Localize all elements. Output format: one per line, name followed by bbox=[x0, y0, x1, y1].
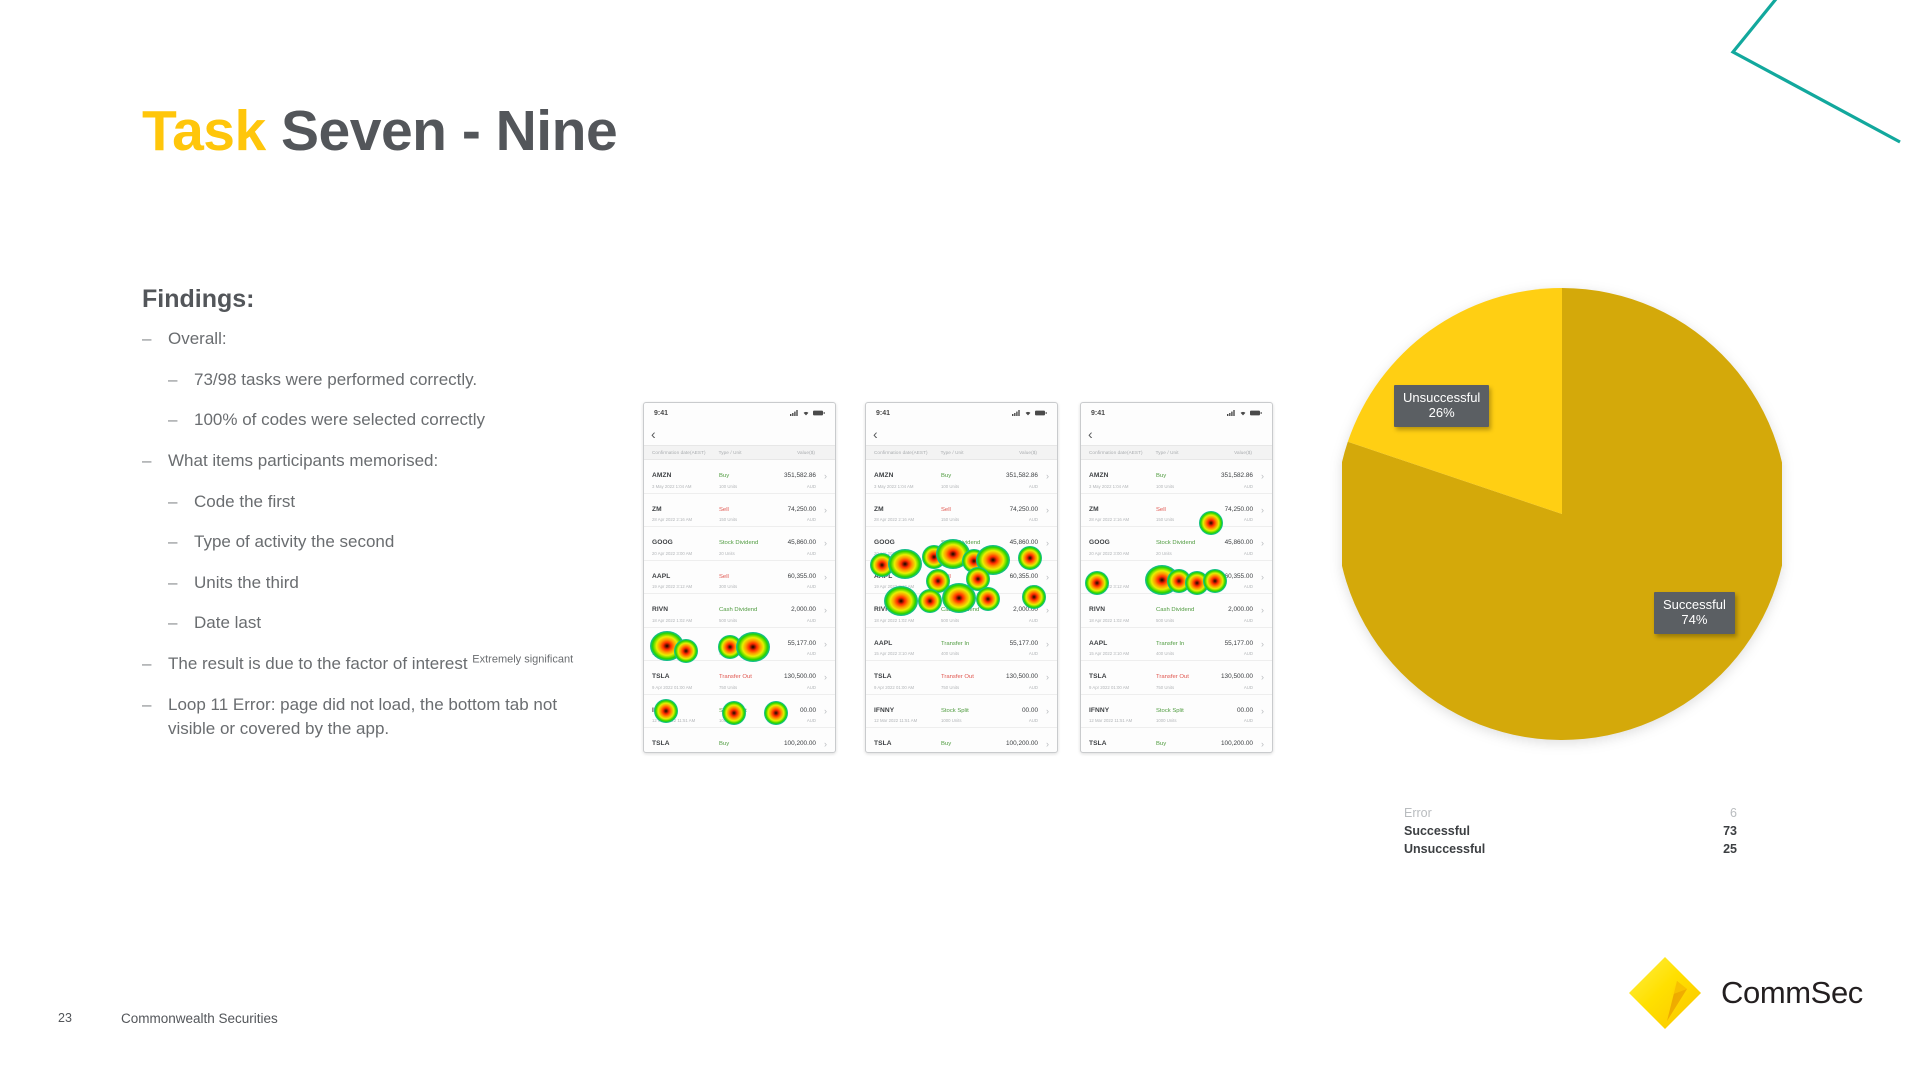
row-date: 15 Apr 2022 3:10 AM bbox=[1089, 651, 1156, 656]
row-type: Buy bbox=[719, 473, 729, 479]
finding-bullet: –Date last bbox=[142, 611, 582, 636]
bullet-dash-icon: – bbox=[142, 652, 168, 677]
row-currency: AUD bbox=[992, 752, 1038, 754]
row-units: 500 Units bbox=[941, 618, 992, 623]
cellular-signal-icon bbox=[790, 410, 799, 416]
chevron-right-icon[interactable]: › bbox=[816, 672, 827, 682]
data-table-label: Unsuccessful bbox=[1404, 841, 1485, 859]
row-type: Buy bbox=[719, 741, 729, 747]
row-symbol: RIVN bbox=[1089, 606, 1105, 613]
row-symbol: AMZN bbox=[652, 472, 671, 479]
bullet-dash-icon: – bbox=[168, 490, 194, 515]
bullet-text: Code the first bbox=[194, 490, 582, 515]
row-type: Transfer Out bbox=[941, 674, 974, 680]
row-date: 20 Apr 2022 3:00 AM bbox=[874, 551, 941, 556]
row-symbol: ZM bbox=[874, 506, 884, 513]
row-units: 150 Units bbox=[1156, 517, 1207, 522]
row-symbol: AAPL bbox=[874, 640, 892, 647]
title-highlight: Task bbox=[142, 99, 266, 163]
table-row[interactable]: IFNNY12 Mar 2022 11:51 AMStock Split1000… bbox=[644, 695, 835, 729]
column-header-value: Value($) bbox=[991, 450, 1049, 455]
row-currency: AUD bbox=[1207, 551, 1253, 556]
row-units: 180 Units bbox=[1156, 752, 1207, 754]
bullet-text: Type of activity the second bbox=[194, 530, 582, 555]
bullet-text: Date last bbox=[194, 611, 582, 636]
row-units: 750 Units bbox=[1156, 685, 1207, 690]
pie-label-successful-percent: 74% bbox=[1663, 612, 1726, 627]
row-symbol: AAPL bbox=[652, 573, 670, 580]
row-units: 400 Units bbox=[1156, 651, 1207, 656]
row-symbol: IFNNY bbox=[1089, 707, 1109, 714]
finding-bullet: –Type of activity the second bbox=[142, 530, 582, 555]
row-symbol: RIVN bbox=[874, 606, 890, 613]
row-currency: AUD bbox=[992, 517, 1038, 522]
bullet-text: Overall: bbox=[168, 327, 582, 352]
chevron-right-icon[interactable]: › bbox=[1038, 505, 1049, 515]
table-row[interactable]: TSLA9 Apr 2022 01:00 AMTransfer Out750 U… bbox=[1081, 661, 1272, 695]
row-currency: AUD bbox=[770, 551, 816, 556]
row-date: 19 Apr 2022 3:12 AM bbox=[652, 584, 719, 589]
data-table-label: Successful bbox=[1404, 823, 1470, 841]
table-row[interactable]: IFNNY12 Mar 2022 11:51 AMStock Split1000… bbox=[866, 695, 1057, 729]
row-amount: 351,582.86 bbox=[784, 472, 816, 479]
row-type: Cash Dividend bbox=[719, 607, 757, 613]
finding-bullet: –Overall: bbox=[142, 327, 582, 352]
row-amount: 60,355.00 bbox=[1225, 573, 1253, 580]
transaction-list: AMZN3 May 2022 1:04 AMBuy100 Units351,58… bbox=[866, 460, 1057, 753]
row-type: Transfer In bbox=[1156, 641, 1184, 647]
chevron-right-icon[interactable]: › bbox=[1253, 605, 1264, 615]
row-date: 18 Apr 2022 1:02 AM bbox=[652, 618, 719, 623]
row-type: Transfer In bbox=[719, 641, 747, 647]
row-date: 12 Mar 2022 11:51 AM bbox=[1089, 718, 1156, 723]
row-date: 3 May 2022 1:04 AM bbox=[874, 484, 941, 489]
finding-bullet: –Loop 11 Error: page did not load, the b… bbox=[142, 693, 582, 742]
finding-bullet: –What items participants memorised: bbox=[142, 449, 582, 474]
row-symbol: TSLA bbox=[874, 673, 892, 680]
row-type: Buy bbox=[1156, 741, 1166, 747]
row-currency: AUD bbox=[770, 718, 816, 723]
bullet-dash-icon: – bbox=[168, 368, 194, 393]
row-amount: 351,582.86 bbox=[1006, 472, 1038, 479]
row-units: 750 Units bbox=[719, 685, 770, 690]
finding-bullet: –100% of codes were selected correctly bbox=[142, 408, 582, 433]
finding-bullet: –73/98 tasks were performed correctly. bbox=[142, 368, 582, 393]
chevron-right-icon[interactable]: › bbox=[1253, 672, 1264, 682]
slide-root: Task Seven - Nine Findings: –Overall:–73… bbox=[0, 0, 1920, 1080]
bullet-dash-icon: – bbox=[142, 449, 168, 474]
row-type: Cash Dividend bbox=[1156, 607, 1194, 613]
row-currency: AUD bbox=[770, 651, 816, 656]
bullet-dash-icon: – bbox=[168, 530, 194, 555]
row-type: Stock Split bbox=[1156, 708, 1184, 714]
row-type: Stock Dividend bbox=[1156, 540, 1195, 546]
row-amount: 55,177.00 bbox=[1010, 640, 1038, 647]
row-amount: 00.00 bbox=[800, 707, 816, 714]
row-symbol: GOOG bbox=[874, 539, 895, 546]
table-row[interactable]: ZM28 Apr 2022 2:16 AMSell150 Units74,250… bbox=[644, 494, 835, 528]
row-amount: 60,355.00 bbox=[1010, 573, 1038, 580]
table-row[interactable]: GOOG20 Apr 2022 3:00 AMStock Dividend20 … bbox=[866, 527, 1057, 561]
row-currency: AUD bbox=[1207, 584, 1253, 589]
row-date: 20 Apr 2022 3:00 AM bbox=[1089, 551, 1156, 556]
row-amount: 2,000.00 bbox=[1013, 606, 1038, 613]
row-date: 9 Apr 2022 01:00 AM bbox=[652, 685, 719, 690]
chevron-left-icon[interactable]: ‹ bbox=[651, 427, 656, 441]
column-header-type: Type / Unit bbox=[941, 450, 992, 455]
row-currency: AUD bbox=[770, 484, 816, 489]
row-symbol: AMZN bbox=[1089, 472, 1108, 479]
row-type: Buy bbox=[1156, 473, 1166, 479]
table-row[interactable]: AAPL15 Apr 2022 3:10 AMTransfer In400 Un… bbox=[866, 628, 1057, 662]
row-type: Transfer In bbox=[941, 641, 969, 647]
row-amount: 45,860.00 bbox=[788, 539, 816, 546]
row-date: 9 Apr 2022 01:00 AM bbox=[874, 685, 941, 690]
pie-label-successful: Successful 74% bbox=[1654, 592, 1735, 634]
battery-icon bbox=[1250, 410, 1262, 416]
row-units: 180 Units bbox=[719, 752, 770, 754]
row-symbol: TSLA bbox=[874, 740, 892, 747]
row-type: Sell bbox=[719, 574, 729, 580]
chevron-right-icon[interactable]: › bbox=[1038, 672, 1049, 682]
row-date: 1 Feb 2022 3:30 AM bbox=[652, 752, 719, 754]
table-row[interactable]: TSLA9 Apr 2022 01:00 AMTransfer Out750 U… bbox=[866, 661, 1057, 695]
row-currency: AUD bbox=[992, 584, 1038, 589]
phone-status-bar: 9:41 bbox=[866, 403, 1057, 423]
row-units: 300 Units bbox=[1156, 584, 1207, 589]
row-currency: AUD bbox=[770, 618, 816, 623]
row-date: 28 Apr 2022 2:16 AM bbox=[1089, 517, 1156, 522]
pie-chart bbox=[1342, 276, 1782, 752]
row-date: 12 Mar 2022 11:51 AM bbox=[652, 718, 719, 723]
transaction-column-headers: Confirmation date(AEST) Type / Unit Valu… bbox=[866, 445, 1057, 460]
bullet-text: What items participants memorised: bbox=[168, 449, 582, 474]
chevron-right-icon[interactable]: › bbox=[1253, 639, 1264, 649]
chevron-right-icon[interactable]: › bbox=[816, 538, 827, 548]
row-symbol: TSLA bbox=[1089, 673, 1107, 680]
row-amount: 55,177.00 bbox=[788, 640, 816, 647]
row-symbol: TSLA bbox=[1089, 740, 1107, 747]
battery-icon bbox=[813, 410, 825, 416]
column-header-type: Type / Unit bbox=[1156, 450, 1207, 455]
bullet-text: 100% of codes were selected correctly bbox=[194, 408, 582, 433]
row-units: 400 Units bbox=[941, 651, 992, 656]
row-symbol: AAPL bbox=[652, 640, 670, 647]
row-symbol: GOOG bbox=[1089, 539, 1110, 546]
chevron-right-icon[interactable]: › bbox=[1253, 739, 1264, 749]
column-header-date: Confirmation date(AEST) bbox=[1089, 450, 1156, 455]
row-date: 1 Feb 2022 3:30 AM bbox=[874, 752, 941, 754]
row-date: 18 Apr 2022 1:02 AM bbox=[1089, 618, 1156, 623]
finding-bullet: –Units the third bbox=[142, 571, 582, 596]
data-table-label: Error bbox=[1404, 805, 1432, 823]
commsec-diamond-icon bbox=[1627, 955, 1703, 1031]
row-units: 750 Units bbox=[941, 685, 992, 690]
table-row[interactable]: TSLA9 Apr 2022 01:00 AMTransfer Out750 U… bbox=[644, 661, 835, 695]
table-row[interactable]: ZM28 Apr 2022 2:16 AMSell150 Units74,250… bbox=[1081, 494, 1272, 528]
transaction-column-headers: Confirmation date(AEST) Type / Unit Valu… bbox=[1081, 445, 1272, 460]
row-amount: 351,582.86 bbox=[1221, 472, 1253, 479]
table-row[interactable]: AAPL19 Apr 2022 3:12 AMSell300 Units60,3… bbox=[644, 561, 835, 595]
row-units: 180 Units bbox=[941, 752, 992, 754]
row-date: 9 Apr 2022 01:00 AM bbox=[1089, 685, 1156, 690]
table-row[interactable]: TSLA1 Feb 2022 3:30 AMBuy180 Units100,20… bbox=[866, 728, 1057, 753]
row-amount: 130,500.00 bbox=[1221, 673, 1253, 680]
row-currency: AUD bbox=[1207, 618, 1253, 623]
row-currency: AUD bbox=[992, 484, 1038, 489]
row-currency: AUD bbox=[992, 618, 1038, 623]
row-date: 3 May 2022 1:04 AM bbox=[1089, 484, 1156, 489]
data-table-value: 25 bbox=[1723, 841, 1737, 859]
row-units: 500 Units bbox=[1156, 618, 1207, 623]
table-row[interactable]: AAPL15 Apr 2022 3:10 AMTransfer In400 Un… bbox=[1081, 628, 1272, 662]
wifi-icon bbox=[1239, 410, 1247, 416]
chart-data-table: Error6Successful73Unsuccessful25 bbox=[1404, 805, 1737, 858]
phone-mockup-3: 9:41 ‹ Confirmation date(AEST) Type / Un… bbox=[1080, 402, 1273, 753]
row-currency: AUD bbox=[770, 685, 816, 690]
pie-chart-svg bbox=[1342, 276, 1782, 752]
chevron-left-icon[interactable]: ‹ bbox=[1088, 427, 1093, 441]
table-row[interactable]: ZM28 Apr 2022 2:16 AMSell150 Units74,250… bbox=[866, 494, 1057, 528]
row-date: 28 Apr 2022 2:16 AM bbox=[874, 517, 941, 522]
row-amount: 45,860.00 bbox=[1225, 539, 1253, 546]
row-date: 3 May 2022 1:04 AM bbox=[652, 484, 719, 489]
row-symbol: GOOG bbox=[652, 539, 673, 546]
commsec-logo: CommSec bbox=[1627, 955, 1863, 1031]
phone-mockup-1: 9:41 ‹ Confirmation date(AEST) Type / Un… bbox=[643, 402, 836, 753]
page-title: Task Seven - Nine bbox=[142, 103, 617, 160]
row-currency: AUD bbox=[992, 551, 1038, 556]
row-symbol: AAPL bbox=[1089, 573, 1107, 580]
row-currency: AUD bbox=[992, 651, 1038, 656]
chevron-right-icon[interactable]: › bbox=[816, 706, 827, 716]
bullet-superscript: Extremely significant bbox=[472, 653, 573, 665]
footer-org-label: Commonwealth Securities bbox=[121, 1011, 278, 1026]
bullet-text: Loop 11 Error: page did not load, the bo… bbox=[168, 693, 582, 742]
row-type: Buy bbox=[941, 473, 951, 479]
row-type: Cash Dividend bbox=[941, 607, 979, 613]
battery-icon bbox=[1035, 410, 1047, 416]
chevron-right-icon[interactable]: › bbox=[816, 605, 827, 615]
chevron-right-icon[interactable]: › bbox=[1038, 739, 1049, 749]
data-table-value: 73 bbox=[1723, 823, 1737, 841]
bullet-dash-icon: – bbox=[142, 693, 168, 718]
finding-bullet: –Code the first bbox=[142, 490, 582, 515]
row-amount: 45,860.00 bbox=[1010, 539, 1038, 546]
row-currency: AUD bbox=[992, 718, 1038, 723]
pie-label-successful-name: Successful bbox=[1663, 597, 1726, 612]
bullet-dash-icon: – bbox=[142, 327, 168, 352]
phone-nav-bar: ‹ bbox=[1081, 423, 1272, 445]
row-symbol: ZM bbox=[1089, 506, 1099, 513]
row-amount: 00.00 bbox=[1237, 707, 1253, 714]
column-header-date: Confirmation date(AEST) bbox=[874, 450, 941, 455]
row-currency: AUD bbox=[1207, 484, 1253, 489]
row-date: 19 Apr 2022 3:12 AM bbox=[1089, 584, 1156, 589]
bullet-text: 73/98 tasks were performed correctly. bbox=[194, 368, 582, 393]
transaction-list: AMZN3 May 2022 1:04 AMBuy100 Units351,58… bbox=[644, 460, 835, 753]
row-type: Buy bbox=[941, 741, 951, 747]
row-units: 300 Units bbox=[941, 584, 992, 589]
finding-bullet: –The result is due to the factor of inte… bbox=[142, 652, 582, 677]
table-row[interactable]: GOOG20 Apr 2022 3:00 AMStock Dividend20 … bbox=[1081, 527, 1272, 561]
bullet-text: The result is due to the factor of inter… bbox=[168, 652, 582, 677]
row-units: 400 Units bbox=[719, 651, 770, 656]
row-amount: 74,250.00 bbox=[1225, 506, 1253, 513]
table-row[interactable]: RIVN18 Apr 2022 1:02 AMCash Dividend500 … bbox=[1081, 594, 1272, 628]
row-type: Sell bbox=[1156, 574, 1166, 580]
row-type: Stock Split bbox=[941, 708, 969, 714]
row-symbol: IFNNY bbox=[652, 707, 672, 714]
row-date: 20 Apr 2022 3:00 AM bbox=[652, 551, 719, 556]
row-amount: 74,250.00 bbox=[1010, 506, 1038, 513]
chevron-right-icon[interactable]: › bbox=[1038, 605, 1049, 615]
row-currency: AUD bbox=[770, 584, 816, 589]
table-row[interactable]: AAPL19 Apr 2022 3:12 AMSell300 Units60,3… bbox=[866, 561, 1057, 595]
table-row[interactable]: AMZN3 May 2022 1:04 AMBuy100 Units351,58… bbox=[866, 460, 1057, 494]
row-date: 1 Feb 2022 3:30 AM bbox=[1089, 752, 1156, 754]
chevron-right-icon[interactable]: › bbox=[1253, 538, 1264, 548]
column-header-type: Type / Unit bbox=[719, 450, 770, 455]
table-row[interactable]: AAPL15 Apr 2022 3:10 AMTransfer In400 Un… bbox=[644, 628, 835, 662]
row-symbol: TSLA bbox=[652, 673, 670, 680]
row-type: Sell bbox=[719, 507, 729, 513]
wifi-icon bbox=[802, 410, 810, 416]
table-row[interactable]: AMZN3 May 2022 1:04 AMBuy100 Units351,58… bbox=[1081, 460, 1272, 494]
findings-list: –Overall:–73/98 tasks were performed cor… bbox=[142, 327, 582, 758]
pie-label-unsuccessful-percent: 26% bbox=[1403, 405, 1480, 420]
row-units: 20 Units bbox=[719, 551, 770, 556]
table-row[interactable]: AAPL19 Apr 2022 3:12 AMSell300 Units60,3… bbox=[1081, 561, 1272, 595]
table-row[interactable]: IFNNY12 Mar 2022 11:51 AMStock Split1000… bbox=[1081, 695, 1272, 729]
row-amount: 2,000.00 bbox=[791, 606, 816, 613]
bullet-dash-icon: – bbox=[168, 611, 194, 636]
findings-heading: Findings: bbox=[142, 285, 254, 314]
row-currency: AUD bbox=[1207, 651, 1253, 656]
row-units: 1000 Units bbox=[1156, 718, 1207, 723]
status-time: 9:41 bbox=[1091, 410, 1105, 417]
row-amount: 100,200.00 bbox=[1221, 740, 1253, 747]
row-date: 19 Apr 2022 3:12 AM bbox=[874, 584, 941, 589]
row-currency: AUD bbox=[1207, 685, 1253, 690]
chevron-right-icon[interactable]: › bbox=[1253, 505, 1264, 515]
row-symbol: AMZN bbox=[874, 472, 893, 479]
row-units: 1000 Units bbox=[719, 718, 770, 723]
row-units: 20 Units bbox=[1156, 551, 1207, 556]
page-number: 23 bbox=[58, 1011, 72, 1025]
chevron-left-icon[interactable]: ‹ bbox=[873, 427, 878, 441]
row-symbol: RIVN bbox=[652, 606, 668, 613]
row-amount: 130,500.00 bbox=[784, 673, 816, 680]
row-currency: AUD bbox=[1207, 718, 1253, 723]
row-amount: 60,355.00 bbox=[788, 573, 816, 580]
chevron-right-icon[interactable]: › bbox=[816, 471, 827, 481]
chevron-right-icon[interactable]: › bbox=[816, 739, 827, 749]
row-type: Sell bbox=[1156, 507, 1166, 513]
row-symbol: TSLA bbox=[652, 740, 670, 747]
table-row[interactable]: RIVN18 Apr 2022 1:02 AMCash Dividend500 … bbox=[644, 594, 835, 628]
pie-label-unsuccessful: Unsuccessful 26% bbox=[1394, 385, 1489, 427]
table-row[interactable]: RIVN18 Apr 2022 1:02 AMCash Dividend500 … bbox=[866, 594, 1057, 628]
chevron-right-icon[interactable]: › bbox=[1253, 572, 1264, 582]
row-units: 1000 Units bbox=[941, 718, 992, 723]
chevron-right-icon[interactable]: › bbox=[1038, 706, 1049, 716]
row-date: 15 Apr 2022 3:10 AM bbox=[652, 651, 719, 656]
row-currency: AUD bbox=[1207, 752, 1253, 754]
chevron-right-icon[interactable]: › bbox=[1253, 706, 1264, 716]
row-amount: 2,000.00 bbox=[1228, 606, 1253, 613]
chevron-right-icon[interactable]: › bbox=[1038, 572, 1049, 582]
row-date: 15 Apr 2022 3:10 AM bbox=[874, 651, 941, 656]
row-date: 18 Apr 2022 1:02 AM bbox=[874, 618, 941, 623]
table-row[interactable]: AMZN3 May 2022 1:04 AMBuy100 Units351,58… bbox=[644, 460, 835, 494]
row-units: 500 Units bbox=[719, 618, 770, 623]
column-header-date: Confirmation date(AEST) bbox=[652, 450, 719, 455]
status-time: 9:41 bbox=[654, 410, 668, 417]
row-units: 150 Units bbox=[941, 517, 992, 522]
row-symbol: IFNNY bbox=[874, 707, 894, 714]
row-type: Stock Dividend bbox=[719, 540, 758, 546]
phone-nav-bar: ‹ bbox=[866, 423, 1057, 445]
row-type: Stock Dividend bbox=[941, 540, 980, 546]
row-date: 12 Mar 2022 11:51 AM bbox=[874, 718, 941, 723]
phone-nav-bar: ‹ bbox=[644, 423, 835, 445]
chevron-right-icon[interactable]: › bbox=[1038, 471, 1049, 481]
status-time: 9:41 bbox=[876, 410, 890, 417]
row-date: 28 Apr 2022 2:16 AM bbox=[652, 517, 719, 522]
transaction-list: AMZN3 May 2022 1:04 AMBuy100 Units351,58… bbox=[1081, 460, 1272, 753]
table-row[interactable]: TSLA1 Feb 2022 3:30 AMBuy180 Units100,20… bbox=[644, 728, 835, 753]
row-type: Sell bbox=[941, 507, 951, 513]
phone-mockup-2: 9:41 ‹ Confirmation date(AEST) Type / Un… bbox=[865, 402, 1058, 753]
row-units: 100 Units bbox=[941, 484, 992, 489]
data-table-row: Successful73 bbox=[1404, 823, 1737, 841]
row-type: Sell bbox=[941, 574, 951, 580]
column-header-value: Value($) bbox=[769, 450, 827, 455]
table-row[interactable]: GOOG20 Apr 2022 3:00 AMStock Dividend20 … bbox=[644, 527, 835, 561]
row-amount: 74,250.00 bbox=[788, 506, 816, 513]
chevron-right-icon[interactable]: › bbox=[1038, 538, 1049, 548]
chevron-right-icon[interactable]: › bbox=[816, 572, 827, 582]
row-amount: 130,500.00 bbox=[1006, 673, 1038, 680]
commsec-logo-text: CommSec bbox=[1721, 975, 1863, 1011]
teal-corner-decoration bbox=[1710, 0, 1920, 152]
row-type: Transfer Out bbox=[719, 674, 752, 680]
chevron-right-icon[interactable]: › bbox=[1038, 639, 1049, 649]
row-currency: AUD bbox=[992, 685, 1038, 690]
row-currency: AUD bbox=[770, 517, 816, 522]
title-rest: Seven - Nine bbox=[266, 99, 617, 163]
table-row[interactable]: TSLA1 Feb 2022 3:30 AMBuy180 Units100,20… bbox=[1081, 728, 1272, 753]
row-units: 100 Units bbox=[1156, 484, 1207, 489]
row-amount: 00.00 bbox=[1022, 707, 1038, 714]
row-symbol: ZM bbox=[652, 506, 662, 513]
chevron-right-icon[interactable]: › bbox=[816, 639, 827, 649]
row-symbol: AAPL bbox=[874, 573, 892, 580]
row-type: Stock Split bbox=[719, 708, 747, 714]
row-currency: AUD bbox=[1207, 517, 1253, 522]
row-units: 300 Units bbox=[719, 584, 770, 589]
chevron-right-icon[interactable]: › bbox=[816, 505, 827, 515]
transaction-column-headers: Confirmation date(AEST) Type / Unit Valu… bbox=[644, 445, 835, 460]
row-amount: 100,200.00 bbox=[1006, 740, 1038, 747]
row-amount: 100,200.00 bbox=[784, 740, 816, 747]
row-currency: AUD bbox=[770, 752, 816, 754]
bullet-dash-icon: – bbox=[168, 408, 194, 433]
cellular-signal-icon bbox=[1012, 410, 1021, 416]
data-table-row: Error6 bbox=[1404, 805, 1737, 823]
chevron-right-icon[interactable]: › bbox=[1253, 471, 1264, 481]
